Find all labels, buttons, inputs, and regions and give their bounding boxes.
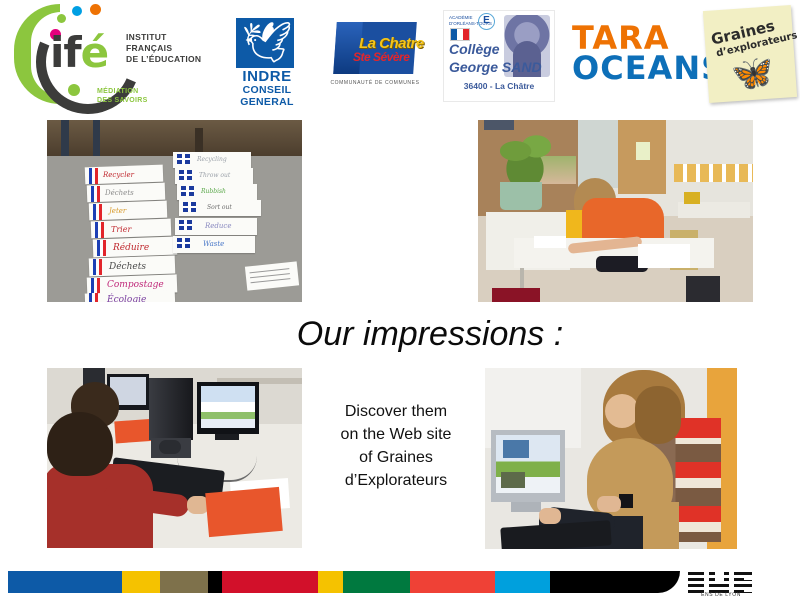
body-text: Discover them on the Web site of Graines… bbox=[312, 400, 480, 492]
ife-institute-name: INSTITUT FRANÇAIS DE L’ÉDUCATION bbox=[126, 32, 201, 65]
photo1-word-en: Waste bbox=[203, 240, 224, 248]
photo4-pupil-hand bbox=[539, 508, 561, 524]
photo1-word-fr: Déchets bbox=[105, 189, 134, 197]
ife-dot-green-icon bbox=[57, 14, 66, 23]
butterfly-icon: 🦋 bbox=[726, 52, 779, 95]
photo-students-computers bbox=[47, 368, 302, 548]
ife-tagline-line-2: DES SAVOIRS bbox=[97, 96, 148, 105]
ife-tagline-line-1: MÉDIATION bbox=[97, 87, 148, 96]
photo1-word-fr: Jeter bbox=[109, 207, 126, 215]
photo2-paper bbox=[534, 236, 566, 248]
ife-logo: ifé INSTITUT FRANÇAIS DE L’ÉDUCATION MÉD… bbox=[14, 4, 214, 108]
body-text-line-1: Discover them bbox=[312, 400, 480, 423]
tara-line-2: OCEANS bbox=[572, 52, 707, 84]
ife-dot-blue-icon bbox=[72, 6, 82, 16]
french-flag-icon bbox=[450, 28, 470, 41]
dove-icon: 🕊 bbox=[240, 20, 294, 66]
ens-caption: ENS DE LYON bbox=[686, 592, 756, 598]
photo-student-writing bbox=[478, 120, 753, 302]
photo2-plant-pot bbox=[500, 182, 542, 210]
photo3-folder bbox=[205, 487, 283, 537]
college-george-sand-logo: ACADÉMIE D’ORLÉANS-TOURS E Collège Georg… bbox=[443, 10, 555, 102]
french-flag-icon bbox=[89, 168, 98, 184]
photo3-student-head bbox=[47, 412, 113, 476]
french-flag-icon bbox=[91, 278, 100, 294]
photo2-bag bbox=[684, 192, 700, 204]
french-flag-icon bbox=[97, 240, 106, 256]
photo1-word-en: Recycling bbox=[197, 156, 227, 163]
body-text-line-3: of Graines bbox=[312, 446, 480, 469]
footer-color-segment-coral bbox=[410, 571, 495, 593]
footer-color-segment-blue bbox=[8, 571, 122, 593]
photo2-door bbox=[618, 120, 666, 194]
uk-flag-icon bbox=[177, 154, 190, 164]
uk-flag-icon bbox=[181, 186, 194, 196]
academy-initial-icon: E bbox=[478, 13, 495, 30]
photo2-paper bbox=[638, 244, 690, 268]
ife-tagline: MÉDIATION DES SAVOIRS bbox=[97, 87, 148, 105]
college-line-3: 36400 - La Châtre bbox=[444, 81, 554, 91]
photo4-teacher-ponytail bbox=[635, 386, 681, 444]
ife-name-line-2: FRANÇAIS bbox=[126, 43, 201, 54]
footer-color-segment-red bbox=[222, 571, 318, 593]
footer-color-segment-cyan bbox=[495, 571, 550, 593]
photo3-computer-tower bbox=[149, 378, 193, 440]
page-title: Our impressions : bbox=[250, 315, 610, 354]
photo1-word-en: Sort out bbox=[207, 204, 232, 211]
ife-dot-orange-icon bbox=[90, 4, 101, 15]
ife-wordmark-base: if bbox=[50, 28, 81, 77]
french-flag-icon bbox=[93, 204, 102, 220]
photo2-back-table bbox=[678, 202, 750, 218]
footer-color-segment-yellow bbox=[122, 571, 160, 593]
logo-strip: ifé INSTITUT FRANÇAIS DE L’ÉDUCATION MÉD… bbox=[0, 0, 800, 112]
photo1-word-fr: Trier bbox=[111, 225, 131, 234]
la-chatre-subtitle: COMMUNAUTÉ DE COMMUNES bbox=[325, 80, 425, 86]
ife-wordmark: ifé bbox=[50, 32, 108, 74]
indre-conseil-general-logo: 🕊 INDRE CONSEIL GENERAL bbox=[222, 18, 312, 98]
photo-vocabulary-cards: Recycler Déchets Jeter Trier Réduire Déc… bbox=[47, 120, 302, 302]
tara-oceans-logo: TARA OCEANS bbox=[572, 22, 707, 92]
ife-wordmark-accent: é bbox=[81, 28, 109, 77]
footer-color-segment-green bbox=[343, 571, 410, 593]
footer-color-segment-yellow2 bbox=[318, 571, 343, 593]
photo1-word-fr: Réduire bbox=[113, 243, 149, 253]
college-line-2: George SAND bbox=[449, 59, 542, 75]
footer: ENS DE LYON bbox=[0, 562, 800, 600]
french-flag-icon bbox=[91, 186, 100, 202]
college-line-1: Collège bbox=[449, 41, 500, 57]
body-text-line-2: on the Web site bbox=[312, 423, 480, 446]
french-flag-icon bbox=[93, 259, 102, 275]
photo1-word-en: Throw out bbox=[199, 172, 230, 179]
photo2-shelf bbox=[674, 164, 753, 182]
slide: ifé INSTITUT FRANÇAIS DE L’ÉDUCATION MÉD… bbox=[0, 0, 800, 600]
photo1-word-en: Rubbish bbox=[201, 188, 226, 195]
photo1-word-fr: Déchets bbox=[109, 262, 146, 272]
graines-explorateurs-logo: Graines d’explorateurs 🦋 bbox=[703, 5, 797, 103]
photo1-chair-leg bbox=[61, 120, 69, 158]
photo-teacher-and-pupil bbox=[485, 368, 737, 549]
photo4-monitor-stand bbox=[511, 502, 541, 512]
photo1-word-en: Reduce bbox=[205, 222, 231, 230]
photo4-pupil-hand bbox=[597, 496, 621, 512]
ife-dot-green2-icon bbox=[68, 84, 80, 96]
photo1-word-fr: Écologie bbox=[107, 295, 146, 302]
photo3-monitor-screen bbox=[201, 386, 255, 428]
uk-flag-icon bbox=[179, 170, 192, 180]
body-text-line-4: d’Explorateurs bbox=[312, 469, 480, 492]
indre-title: INDRE bbox=[222, 68, 312, 85]
footer-color-segment-black2 bbox=[550, 571, 680, 593]
uk-flag-icon bbox=[183, 202, 196, 212]
la-chatre-logo: La Chatre Ste Sévère COMMUNAUTÉ DE COMMU… bbox=[325, 22, 425, 92]
ens-de-lyon-logo bbox=[688, 570, 752, 594]
photo3-mouse bbox=[159, 440, 181, 454]
la-chatre-line-2: Ste Sévère bbox=[353, 50, 409, 64]
ife-name-line-3: DE L’ÉDUCATION bbox=[126, 54, 201, 65]
photo4-wristwatch bbox=[619, 494, 633, 508]
uk-flag-icon bbox=[179, 220, 192, 230]
photo1-word-fr: Recycler bbox=[103, 171, 134, 179]
photo4-screen-image bbox=[501, 472, 525, 488]
photo4-screen-image bbox=[503, 440, 529, 458]
indre-subtitle: CONSEIL GENERAL bbox=[222, 84, 312, 108]
ife-name-line-1: INSTITUT bbox=[126, 32, 201, 43]
uk-flag-icon bbox=[177, 238, 190, 248]
french-flag-icon bbox=[89, 293, 98, 302]
footer-color-segment-black bbox=[208, 571, 222, 593]
photo2-backpack bbox=[686, 276, 720, 302]
photo1-word-fr: Compostage bbox=[107, 280, 164, 290]
footer-color-segment-olive bbox=[160, 571, 208, 593]
photo2-red-chair bbox=[492, 288, 540, 302]
photo3-monitor-stand bbox=[215, 434, 239, 440]
photo4-teacher-face bbox=[605, 394, 639, 428]
photo1-chair-leg bbox=[93, 120, 100, 158]
french-flag-icon bbox=[95, 222, 104, 238]
